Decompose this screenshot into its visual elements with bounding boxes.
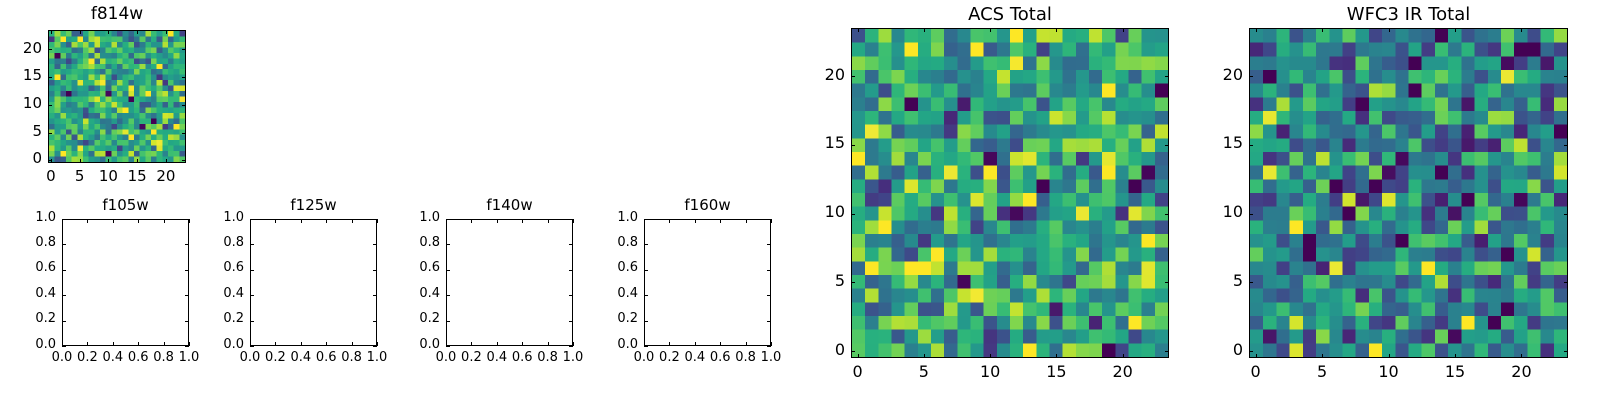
ytick-label-f105w-0: 0.0: [0, 337, 56, 352]
xtick-mark-f814w-2: [108, 159, 109, 163]
xtick-mark-f105w-2: [113, 342, 114, 346]
xtick-mark-top-f105w-3: [138, 219, 139, 223]
heatmap-image-wfc3_ir_total: [1250, 29, 1567, 357]
ytick-label-f160w-0: 0.0: [558, 337, 638, 352]
xtick-mark-top-acs_total-0: [858, 28, 859, 32]
xtick-mark-f140w-3: [522, 342, 523, 346]
ytick-label-wfc3_ir_total-2: 10: [1163, 202, 1243, 221]
axes-f160w[interactable]: [644, 219, 771, 346]
ytick-mark-f140w-2: [446, 295, 450, 296]
axes-f125w[interactable]: [250, 219, 377, 346]
xtick-mark-f160w-3: [720, 342, 721, 346]
ytick-mark-f814w-3: [48, 77, 52, 78]
ytick-label-acs_total-0: 0: [765, 340, 845, 359]
ytick-label-wfc3_ir_total-4: 20: [1163, 65, 1243, 84]
axes-f814w[interactable]: [48, 30, 186, 163]
ytick-mark-right-wfc3_ir_total-4: [1564, 76, 1568, 77]
ytick-mark-f140w-4: [446, 244, 450, 245]
xtick-mark-top-f160w-3: [720, 219, 721, 223]
xtick-mark-wfc3_ir_total-0: [1256, 354, 1257, 358]
ytick-mark-f105w-0: [62, 346, 66, 347]
ytick-mark-right-f814w-2: [182, 105, 186, 106]
ytick-mark-f814w-4: [48, 49, 52, 50]
ytick-mark-f140w-1: [446, 321, 450, 322]
xtick-mark-f160w-1: [669, 342, 670, 346]
xtick-mark-f105w-1: [87, 342, 88, 346]
xtick-mark-top-f125w-3: [326, 219, 327, 223]
ytick-label-acs_total-2: 10: [765, 202, 845, 221]
xtick-mark-top-f140w-4: [548, 219, 549, 223]
xtick-mark-top-wfc3_ir_total-2: [1389, 28, 1390, 32]
xtick-mark-top-f814w-0: [51, 30, 52, 34]
ytick-mark-right-f160w-1: [767, 321, 771, 322]
ytick-mark-f125w-1: [250, 321, 254, 322]
axes-wfc3_ir_total[interactable]: [1249, 28, 1568, 358]
ytick-mark-acs_total-3: [851, 145, 855, 146]
ytick-label-f125w-5: 1.0: [164, 210, 244, 225]
ytick-mark-f125w-5: [250, 219, 254, 220]
ytick-mark-f125w-2: [250, 295, 254, 296]
ytick-label-f814w-4: 20: [0, 39, 42, 57]
ytick-label-wfc3_ir_total-1: 5: [1163, 271, 1243, 290]
ytick-label-acs_total-3: 15: [765, 133, 845, 152]
xtick-label-f814w-4: 20: [126, 167, 206, 185]
panel-title-acs_total: ACS Total: [851, 4, 1169, 25]
ytick-mark-f105w-4: [62, 244, 66, 245]
xtick-mark-top-f814w-3: [137, 30, 138, 34]
xtick-mark-f814w-3: [137, 159, 138, 163]
xtick-mark-top-acs_total-3: [1056, 28, 1057, 32]
ytick-mark-right-wfc3_ir_total-2: [1564, 214, 1568, 215]
ytick-mark-acs_total-0: [851, 351, 855, 352]
xtick-mark-wfc3_ir_total-3: [1455, 354, 1456, 358]
ytick-mark-wfc3_ir_total-2: [1249, 214, 1253, 215]
ytick-label-wfc3_ir_total-0: 0: [1163, 340, 1243, 359]
panel-title-f140w: f140w: [446, 196, 573, 214]
ytick-label-f125w-0: 0.0: [164, 337, 244, 352]
xtick-mark-acs_total-4: [1123, 354, 1124, 358]
xtick-label-acs_total-4: 20: [1083, 362, 1163, 381]
ytick-mark-f105w-5: [62, 219, 66, 220]
axes-f140w[interactable]: [446, 219, 573, 346]
ytick-mark-f140w-3: [446, 270, 450, 271]
ytick-label-f105w-3: 0.6: [0, 260, 56, 275]
axes-acs_total[interactable]: [851, 28, 1169, 358]
ytick-mark-f105w-2: [62, 295, 66, 296]
ytick-mark-acs_total-1: [851, 282, 855, 283]
ytick-label-f125w-3: 0.6: [164, 260, 244, 275]
xtick-mark-top-f160w-4: [746, 219, 747, 223]
ytick-mark-f160w-4: [644, 244, 648, 245]
ytick-label-f160w-2: 0.4: [558, 286, 638, 301]
ytick-mark-right-f814w-3: [182, 77, 186, 78]
xtick-mark-top-f125w-1: [275, 219, 276, 223]
ytick-mark-f125w-4: [250, 244, 254, 245]
ytick-mark-right-wfc3_ir_total-1: [1564, 282, 1568, 283]
xtick-mark-top-f105w-2: [113, 219, 114, 223]
ytick-label-f105w-4: 0.8: [0, 235, 56, 250]
ytick-mark-f160w-2: [644, 295, 648, 296]
ytick-label-f125w-4: 0.8: [164, 235, 244, 250]
heatmap-image-f814w: [49, 31, 185, 162]
ytick-label-f140w-2: 0.4: [360, 286, 440, 301]
ytick-mark-acs_total-2: [851, 214, 855, 215]
panel-title-f160w: f160w: [644, 196, 771, 214]
xtick-mark-wfc3_ir_total-1: [1322, 354, 1323, 358]
ytick-label-f105w-1: 0.2: [0, 311, 56, 326]
xtick-mark-f125w-3: [326, 342, 327, 346]
xtick-mark-f140w-2: [497, 342, 498, 346]
xtick-mark-top-f814w-2: [108, 30, 109, 34]
xtick-mark-top-wfc3_ir_total-4: [1521, 28, 1522, 32]
xtick-mark-top-f140w-2: [497, 219, 498, 223]
ytick-mark-f814w-0: [48, 160, 52, 161]
xtick-mark-f160w-4: [746, 342, 747, 346]
ytick-mark-f160w-1: [644, 321, 648, 322]
ytick-mark-acs_total-4: [851, 76, 855, 77]
ytick-mark-f140w-0: [446, 346, 450, 347]
ytick-label-f160w-1: 0.2: [558, 311, 638, 326]
ytick-label-wfc3_ir_total-3: 15: [1163, 133, 1243, 152]
ytick-mark-f160w-3: [644, 270, 648, 271]
xtick-label-wfc3_ir_total-4: 20: [1481, 362, 1561, 381]
xtick-mark-f125w-2: [301, 342, 302, 346]
xtick-mark-top-wfc3_ir_total-1: [1322, 28, 1323, 32]
panel-title-f814w: f814w: [48, 4, 186, 24]
xtick-mark-top-f140w-1: [471, 219, 472, 223]
ytick-mark-right-f160w-4: [767, 244, 771, 245]
xtick-mark-f814w-1: [80, 159, 81, 163]
xtick-mark-top-f105w-1: [87, 219, 88, 223]
ytick-mark-f814w-2: [48, 105, 52, 106]
ytick-mark-f140w-5: [446, 219, 450, 220]
matplotlib-figure: f814w0510152005101520f105w0.00.20.40.60.…: [0, 0, 1600, 400]
heatmap-image-acs_total: [852, 29, 1168, 357]
ytick-label-f814w-3: 15: [0, 66, 42, 84]
ytick-mark-f105w-1: [62, 321, 66, 322]
ytick-mark-right-f814w-0: [182, 160, 186, 161]
xtick-mark-top-acs_total-2: [990, 28, 991, 32]
ytick-mark-f105w-3: [62, 270, 66, 271]
panel-title-wfc3_ir_total: WFC3 IR Total: [1249, 4, 1568, 25]
xtick-mark-wfc3_ir_total-4: [1521, 354, 1522, 358]
xtick-mark-top-f814w-4: [166, 30, 167, 34]
panel-title-f125w: f125w: [250, 196, 377, 214]
xtick-mark-f125w-1: [275, 342, 276, 346]
xtick-label-f140w-5: 1.0: [533, 350, 613, 365]
xtick-mark-top-f814w-1: [80, 30, 81, 34]
ytick-label-f125w-1: 0.2: [164, 311, 244, 326]
ytick-mark-right-wfc3_ir_total-0: [1564, 351, 1568, 352]
ytick-label-f140w-0: 0.0: [360, 337, 440, 352]
xtick-mark-top-wfc3_ir_total-0: [1256, 28, 1257, 32]
xtick-mark-top-acs_total-1: [924, 28, 925, 32]
ytick-label-f814w-0: 0: [0, 149, 42, 167]
ytick-label-f160w-4: 0.8: [558, 235, 638, 250]
xtick-mark-f140w-1: [471, 342, 472, 346]
ytick-mark-right-f814w-1: [182, 133, 186, 134]
xtick-mark-acs_total-1: [924, 354, 925, 358]
ytick-label-f105w-5: 1.0: [0, 210, 56, 225]
ytick-mark-wfc3_ir_total-4: [1249, 76, 1253, 77]
ytick-label-f140w-1: 0.2: [360, 311, 440, 326]
ytick-mark-wfc3_ir_total-1: [1249, 282, 1253, 283]
ytick-mark-f160w-5: [644, 219, 648, 220]
ytick-mark-right-f814w-4: [182, 49, 186, 50]
ytick-mark-f814w-1: [48, 133, 52, 134]
xtick-mark-top-f140w-3: [522, 219, 523, 223]
ytick-mark-wfc3_ir_total-3: [1249, 145, 1253, 146]
xtick-mark-top-wfc3_ir_total-3: [1455, 28, 1456, 32]
ytick-label-f125w-2: 0.4: [164, 286, 244, 301]
ytick-label-f814w-1: 5: [0, 122, 42, 140]
ytick-label-acs_total-4: 20: [765, 65, 845, 84]
xtick-mark-acs_total-3: [1056, 354, 1057, 358]
ytick-label-f814w-2: 10: [0, 94, 42, 112]
xtick-mark-f814w-4: [166, 159, 167, 163]
ytick-label-f105w-2: 0.4: [0, 286, 56, 301]
ytick-mark-f125w-0: [250, 346, 254, 347]
xtick-mark-acs_total-2: [990, 354, 991, 358]
ytick-mark-wfc3_ir_total-0: [1249, 351, 1253, 352]
ytick-mark-f125w-3: [250, 270, 254, 271]
xtick-mark-top-f160w-1: [669, 219, 670, 223]
xtick-mark-f160w-2: [695, 342, 696, 346]
xtick-mark-top-f160w-2: [695, 219, 696, 223]
ytick-mark-f160w-0: [644, 346, 648, 347]
xtick-mark-top-acs_total-4: [1123, 28, 1124, 32]
ytick-label-f160w-5: 1.0: [558, 210, 638, 225]
ytick-label-f140w-5: 1.0: [360, 210, 440, 225]
xtick-mark-f125w-4: [352, 342, 353, 346]
xtick-mark-top-f125w-2: [301, 219, 302, 223]
ytick-mark-right-wfc3_ir_total-3: [1564, 145, 1568, 146]
xtick-mark-wfc3_ir_total-2: [1389, 354, 1390, 358]
xtick-mark-acs_total-0: [858, 354, 859, 358]
ytick-label-f160w-3: 0.6: [558, 260, 638, 275]
ytick-label-f140w-4: 0.8: [360, 235, 440, 250]
ytick-mark-right-f160w-2: [767, 295, 771, 296]
xtick-mark-f140w-4: [548, 342, 549, 346]
ytick-label-acs_total-1: 5: [765, 271, 845, 290]
xtick-mark-f105w-3: [138, 342, 139, 346]
xtick-label-f125w-5: 1.0: [337, 350, 417, 365]
ytick-label-f140w-3: 0.6: [360, 260, 440, 275]
xtick-mark-top-f125w-4: [352, 219, 353, 223]
